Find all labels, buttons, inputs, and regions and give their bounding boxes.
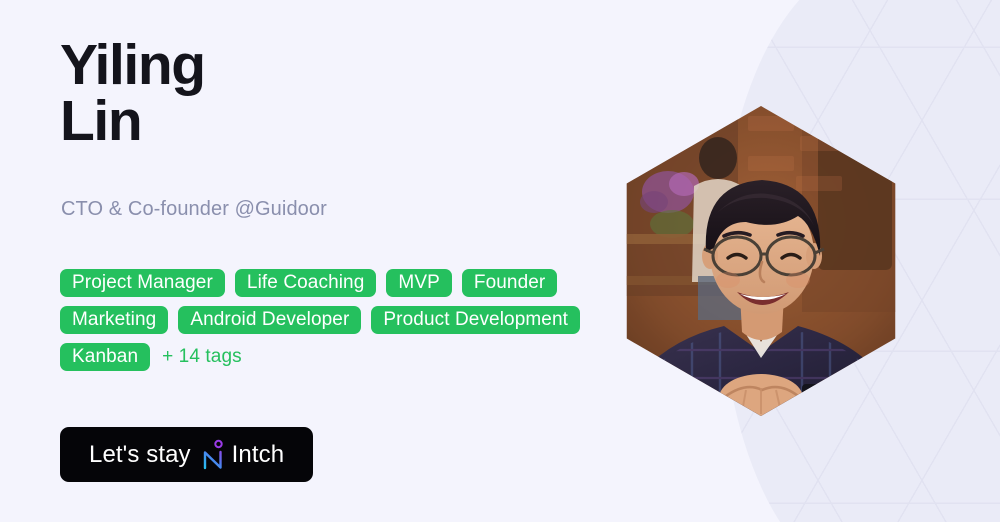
tag-chip[interactable]: MVP (386, 269, 451, 297)
cta-label-before: Let's stay (89, 441, 191, 469)
intch-n-logo-icon (201, 439, 225, 471)
more-tags-link[interactable]: + 14 tags (162, 343, 242, 371)
profile-content: Yiling Lin CTO & Co-founder @Guidoor Pro… (60, 0, 680, 522)
tag-chip[interactable]: Project Manager (60, 269, 225, 297)
tag-chip[interactable]: Founder (462, 269, 557, 297)
tag-chip[interactable]: Life Coaching (235, 269, 377, 297)
tag-chip[interactable]: Product Development (371, 306, 580, 334)
lets-stay-intch-button[interactable]: Let's stay Intch (60, 427, 313, 482)
tag-chip[interactable]: Kanban (60, 343, 150, 371)
cta-label-after: Intch (232, 441, 285, 469)
profile-card: Yiling Lin CTO & Co-founder @Guidoor Pro… (0, 0, 1000, 522)
tag-chip[interactable]: Android Developer (178, 306, 361, 334)
page-title: Yiling Lin (60, 38, 205, 150)
tag-list: Project Manager Life Coaching MVP Founde… (60, 269, 620, 371)
profile-headline: CTO & Co-founder @Guidoor (61, 198, 327, 221)
tag-chip[interactable]: Marketing (60, 306, 168, 334)
